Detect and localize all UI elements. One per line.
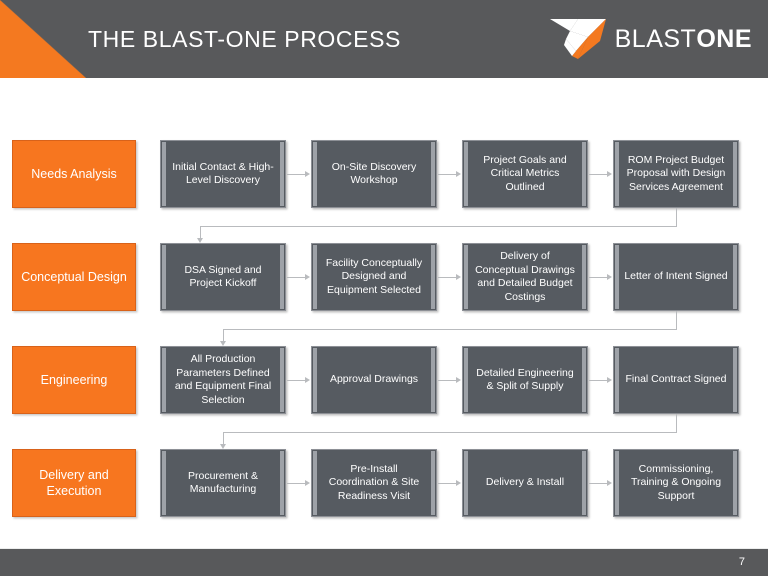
step-box-r2c4[interactable]: Letter of Intent Signed (613, 243, 739, 311)
process-row-1: Needs Analysis Initial Contact & High-Le… (0, 140, 768, 208)
connector-r1c3-r1c4 (589, 174, 608, 175)
connector-arrow-r3c3 (456, 377, 461, 383)
connector-wrap-1-down (676, 208, 677, 226)
process-row-2: Conceptual Design DSA Signed and Project… (0, 243, 768, 311)
connector-r4c1-r4c2 (287, 483, 306, 484)
step-label: Initial Contact & High-Level Discovery (171, 161, 275, 188)
connector-arrow-r4c4 (607, 480, 612, 486)
step-box-r1c4[interactable]: ROM Project Budget Proposal with Design … (613, 140, 739, 208)
connector-r2c3-r2c4 (589, 277, 608, 278)
step-box-r4c4[interactable]: Commissioning, Training & Ongoing Suppor… (613, 449, 739, 517)
footer-divider (0, 548, 768, 549)
stage-label-delivery-and-execution: Delivery and Execution (12, 449, 136, 517)
step-label: Delivery of Conceptual Drawings and Deta… (473, 250, 577, 304)
brand-logo-text-light: BLAST (615, 25, 697, 53)
connector-arrow-r3c2 (305, 377, 310, 383)
step-label: Detailed Engineering & Split of Supply (473, 367, 577, 394)
process-row-4: Delivery and Execution Procurement & Man… (0, 449, 768, 517)
step-box-r2c1[interactable]: DSA Signed and Project Kickoff (160, 243, 286, 311)
connector-wrap-1-arrow (197, 238, 203, 243)
step-label: All Production Parameters Defined and Eq… (171, 353, 275, 407)
step-label: DSA Signed and Project Kickoff (171, 264, 275, 291)
step-label: ROM Project Budget Proposal with Design … (624, 154, 728, 195)
step-label: Facility Conceptually Designed and Equip… (322, 257, 426, 298)
page-number: 7 (739, 548, 745, 576)
step-box-r3c4[interactable]: Final Contract Signed (613, 346, 739, 414)
step-box-r4c1[interactable]: Procurement & Manufacturing (160, 449, 286, 517)
connector-arrow-r2c4 (607, 274, 612, 280)
connector-wrap-3-down (676, 414, 677, 432)
connector-r3c2-r3c3 (438, 380, 457, 381)
connector-r4c3-r4c4 (589, 483, 608, 484)
connector-arrow-r4c3 (456, 480, 461, 486)
stage-label-conceptual-design: Conceptual Design (12, 243, 136, 311)
step-box-r3c2[interactable]: Approval Drawings (311, 346, 437, 414)
connector-wrap-2-arrow (220, 341, 226, 346)
slide-footer: 7 (0, 548, 768, 576)
stage-label-text: Delivery and Execution (19, 467, 129, 499)
slide: THE BLAST-ONE PROCESS BLASTONE Needs Ana… (0, 0, 768, 576)
step-label: Procurement & Manufacturing (171, 470, 275, 497)
stage-label-needs-analysis: Needs Analysis (12, 140, 136, 208)
brand-logo-text: BLASTONE (615, 25, 752, 54)
process-row-3: Engineering All Production Parameters De… (0, 346, 768, 414)
connector-r3c3-r3c4 (589, 380, 608, 381)
connector-r4c2-r4c3 (438, 483, 457, 484)
stage-label-text: Conceptual Design (21, 269, 127, 285)
brand-logo-text-bold: ONE (696, 25, 752, 53)
connector-arrow-r1c3 (456, 171, 461, 177)
connector-r2c1-r2c2 (287, 277, 306, 278)
stage-label-engineering: Engineering (12, 346, 136, 414)
stage-label-text: Engineering (41, 372, 108, 388)
connector-arrow-r4c2 (305, 480, 310, 486)
step-box-r3c3[interactable]: Detailed Engineering & Split of Supply (462, 346, 588, 414)
connector-arrow-r3c4 (607, 377, 612, 383)
step-box-r4c2[interactable]: Pre-Install Coordination & Site Readines… (311, 449, 437, 517)
brand-logo: BLASTONE (548, 14, 752, 64)
slide-header: THE BLAST-ONE PROCESS BLASTONE (0, 0, 768, 78)
connector-wrap-3-left (223, 432, 677, 433)
connector-r1c2-r1c3 (438, 174, 457, 175)
step-box-r4c3[interactable]: Delivery & Install (462, 449, 588, 517)
step-box-r1c2[interactable]: On-Site Discovery Workshop (311, 140, 437, 208)
stage-label-text: Needs Analysis (31, 166, 116, 182)
step-label: Approval Drawings (330, 373, 418, 387)
connector-r1c1-r1c2 (287, 174, 306, 175)
connector-wrap-2-left (223, 329, 677, 330)
step-label: Commissioning, Training & Ongoing Suppor… (624, 463, 728, 504)
step-label: Final Contract Signed (626, 373, 727, 387)
step-label: Pre-Install Coordination & Site Readines… (322, 463, 426, 504)
page-title: THE BLAST-ONE PROCESS (88, 0, 401, 78)
connector-arrow-r1c2 (305, 171, 310, 177)
step-label: Letter of Intent Signed (624, 270, 727, 284)
connector-arrow-r1c4 (607, 171, 612, 177)
step-box-r2c2[interactable]: Facility Conceptually Designed and Equip… (311, 243, 437, 311)
blastone-chevron-logo-icon (548, 15, 608, 63)
step-box-r1c1[interactable]: Initial Contact & High-Level Discovery (160, 140, 286, 208)
connector-wrap-1-left (200, 226, 677, 227)
step-box-r1c3[interactable]: Project Goals and Critical Metrics Outli… (462, 140, 588, 208)
connector-wrap-2-down (676, 311, 677, 329)
step-label: On-Site Discovery Workshop (322, 161, 426, 188)
step-box-r2c3[interactable]: Delivery of Conceptual Drawings and Deta… (462, 243, 588, 311)
connector-r2c2-r2c3 (438, 277, 457, 278)
connector-arrow-r2c3 (456, 274, 461, 280)
connector-r3c1-r3c2 (287, 380, 306, 381)
step-box-r3c1[interactable]: All Production Parameters Defined and Eq… (160, 346, 286, 414)
step-label: Project Goals and Critical Metrics Outli… (473, 154, 577, 195)
process-diagram: Needs Analysis Initial Contact & High-Le… (0, 78, 768, 548)
header-orange-wedge (0, 0, 86, 78)
connector-wrap-3-arrow (220, 444, 226, 449)
step-label: Delivery & Install (486, 476, 564, 490)
connector-arrow-r2c2 (305, 274, 310, 280)
